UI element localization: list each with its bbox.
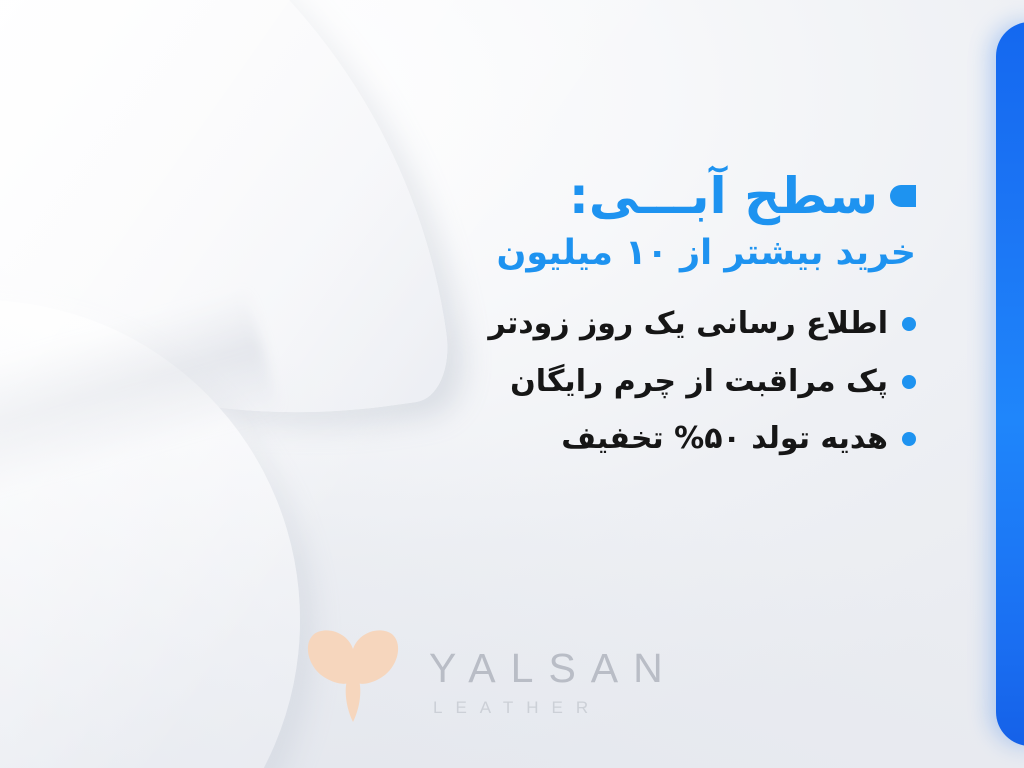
headline-primary-row: سطح آبـــی: bbox=[396, 168, 916, 224]
logo-subtitle: LEATHER bbox=[433, 699, 601, 716]
trefoil-leaf-icon bbox=[305, 624, 401, 724]
benefit-label: پک مراقبت از چرم رایگان bbox=[510, 362, 888, 403]
headline-primary: سطح آبـــی: bbox=[569, 168, 878, 224]
list-item: پک مراقبت از چرم رایگان bbox=[396, 362, 916, 403]
right-edge-blue-bar bbox=[996, 22, 1024, 746]
bullet-dot-icon bbox=[902, 432, 916, 446]
logo-wordmark: YALSAN LEATHER bbox=[429, 632, 678, 716]
promo-content: سطح آبـــی: خرید بیشتر از ۱۰ میلیون اطلا… bbox=[396, 168, 916, 477]
logo-name: YALSAN bbox=[429, 648, 678, 689]
list-item: هدیه تولد ۵۰% تخفیف bbox=[396, 419, 916, 460]
list-item: اطلاع رسانی یک روز زودتر bbox=[396, 304, 916, 345]
benefit-label: هدیه تولد ۵۰% تخفیف bbox=[561, 419, 888, 460]
bullet-dot-icon bbox=[902, 375, 916, 389]
headline-bullet-marker-icon bbox=[890, 185, 916, 207]
brand-logo: YALSAN LEATHER bbox=[305, 624, 678, 724]
bullet-dot-icon bbox=[902, 317, 916, 331]
benefits-list: اطلاع رسانی یک روز زودتر پک مراقبت از چر… bbox=[396, 304, 916, 460]
headline-secondary: خرید بیشتر از ۱۰ میلیون bbox=[396, 232, 916, 274]
benefit-label: اطلاع رسانی یک روز زودتر bbox=[488, 304, 888, 345]
promo-banner: سطح آبـــی: خرید بیشتر از ۱۰ میلیون اطلا… bbox=[0, 0, 1024, 768]
